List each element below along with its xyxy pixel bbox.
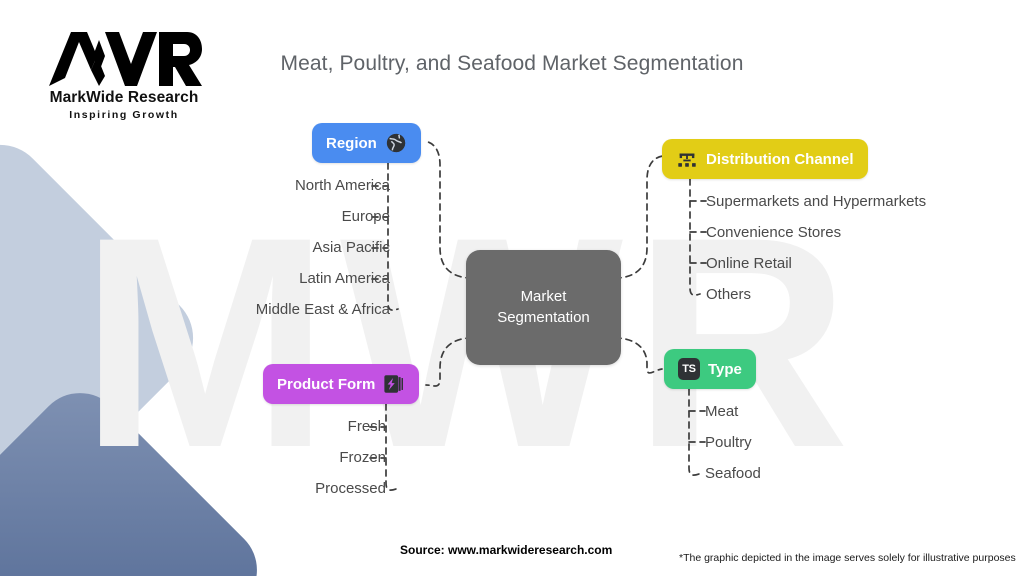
branch-label-product-form: Product Form [277,376,375,393]
leaf-item[interactable]: Seafood [705,466,761,481]
diagram-canvas: MWR MarkWide Research Inspiring Growth M… [0,0,1024,576]
logo-company-name: MarkWide Research [24,89,224,107]
branch-label-distribution-channel: Distribution Channel [706,151,854,168]
leaf-item[interactable]: Latin America [0,271,390,286]
center-node-line1: Market [521,288,567,305]
distribution-network-icon [676,148,698,170]
leaf-item[interactable]: Convenience Stores [706,225,926,240]
leaf-list-product-form: Fresh Frozen Processed [0,419,386,512]
leaf-list-distribution-channel: Supermarkets and Hypermarkets Convenienc… [706,194,926,318]
link-distribution-spine [690,179,700,295]
center-node-text: Market Segmentation [497,287,590,328]
center-node-line2: Segmentation [497,309,590,326]
leaf-item[interactable]: Frozen [0,450,386,465]
leaf-item[interactable]: Processed [0,481,386,496]
product-book-icon [383,373,405,395]
leaf-list-type: Meat Poultry Seafood [705,404,761,497]
leaf-item[interactable]: North America [0,178,390,193]
footer-source[interactable]: Source: www.markwideresearch.com [400,543,612,557]
footer-disclaimer: *The graphic depicted in the image serve… [679,552,1016,564]
link-productform-spine [386,404,396,490]
leaf-item[interactable]: Middle East & Africa [0,302,390,317]
leaf-item[interactable]: Supermarkets and Hypermarkets [706,194,926,209]
leaf-item[interactable]: Online Retail [706,256,926,271]
link-center-distribution [615,156,663,278]
branch-node-type[interactable]: TS Type [664,349,756,389]
branch-node-product-form[interactable]: Product Form [263,364,419,404]
link-type-spine [689,389,699,475]
leaf-item[interactable]: Poultry [705,435,761,450]
center-node-market-segmentation[interactable]: Market Segmentation [466,250,621,365]
leaf-item[interactable]: Asia Pacific [0,240,390,255]
globe-icon [385,132,407,154]
leaf-item[interactable]: Europe [0,209,390,224]
logo-tagline: Inspiring Growth [24,109,224,121]
branch-label-type: Type [708,361,742,378]
leaf-item[interactable]: Fresh [0,419,386,434]
ts-badge-icon: TS [678,358,700,380]
link-center-type [615,338,662,373]
ts-badge-text: TS [678,358,700,380]
branch-node-region[interactable]: Region [312,123,421,163]
link-center-region [424,141,472,278]
page-title: Meat, Poultry, and Seafood Market Segmen… [0,52,1024,76]
branch-node-distribution-channel[interactable]: Distribution Channel [662,139,868,179]
branch-label-region: Region [326,135,377,152]
leaf-item[interactable]: Meat [705,404,761,419]
leaf-list-region: North America Europe Asia Pacific Latin … [0,178,390,333]
leaf-item[interactable]: Others [706,287,926,302]
